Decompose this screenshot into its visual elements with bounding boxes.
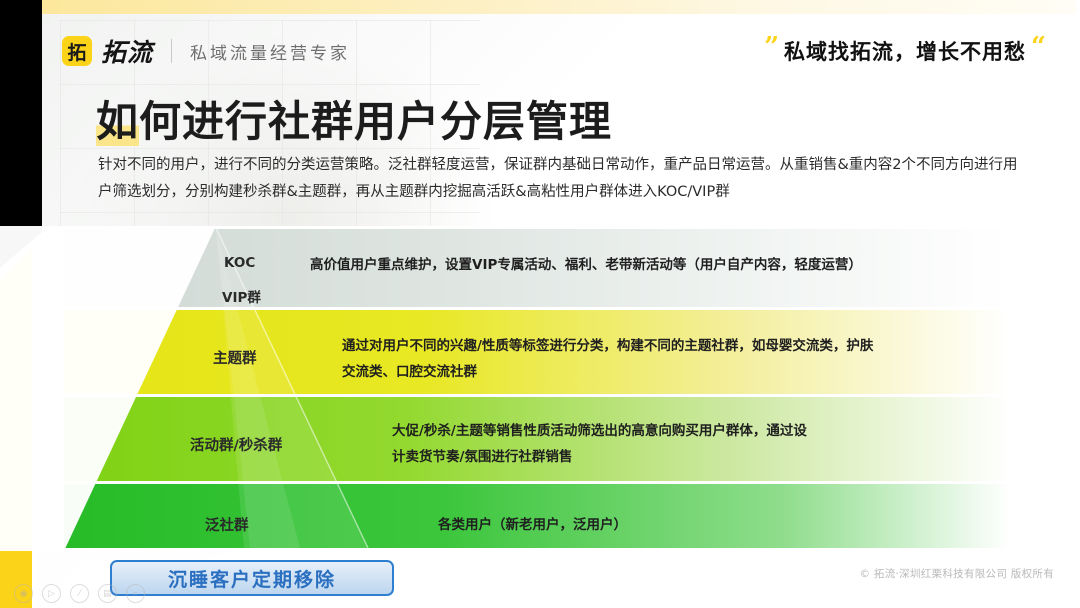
search-icon: ⌕ — [126, 584, 145, 603]
brand-tagline: 私域流量经营专家 — [190, 39, 350, 64]
quote-close-icon: “ — [1031, 36, 1046, 58]
tier-koc-label: KOC — [224, 255, 255, 271]
slide-canvas: 拓流 拓 拓流 私域流量经营专家 ” 私域找拓流，增长不用愁 “ 如何进行社群用… — [0, 0, 1080, 608]
tier-theme-description-line1: 通过对用户不同的兴趣/性质等标签进行分类，构建不同的主题社群，如母婴交流类，护肤 — [342, 333, 1002, 359]
tier-koc-label-2: VIP群 — [222, 286, 261, 306]
top-accent-strip — [36, 0, 1080, 14]
left-yellow-bar — [0, 248, 32, 608]
remove-dormant-customers-button[interactable]: 沉睡客户定期移除 — [110, 560, 394, 596]
page-subtitle: 针对不同的用户，进行不同的分类运营策略。泛社群轻度运营，保证群内基础日常动作，重… — [98, 152, 1023, 206]
quote-open-icon: ” — [764, 36, 779, 58]
copy-icon: ▤ — [98, 584, 117, 603]
play-icon: ▷ — [42, 584, 61, 603]
logo-wordmark: 拓流 — [101, 33, 153, 69]
camera-icon: ◉ — [14, 584, 33, 603]
tier-activity-description-line1: 大促/秒杀/主题等销售性质活动筛选出的高意向购买用户群体，通过设 — [392, 418, 1012, 444]
tier-general-label: 泛社群 — [205, 514, 249, 535]
link-icon: ⁄ — [70, 584, 89, 603]
copyright-text: © 拓流·深圳红栗科技有限公司 版权所有 — [859, 566, 1054, 581]
logo-icon: 拓 — [62, 36, 92, 66]
tier-activity-description-line2: 计卖货节奏/氛围进行社群销售 — [392, 444, 1012, 470]
tier-koc-description: 高价值用户重点维护，设置VIP专属活动、福利、老带新活动等（用户自产内容，轻度运… — [310, 252, 990, 278]
page-title: 如何进行社群用户分层管理 — [96, 88, 612, 149]
right-edge-rule — [1076, 0, 1080, 608]
page-title-rest: 何进行社群用户分层管理 — [139, 97, 612, 146]
page-title-highlight: 如 — [96, 97, 139, 146]
tier-theme-description-line2: 交流类、口腔交流社群 — [342, 359, 1002, 385]
slogan-text: 私域找拓流，增长不用愁 — [784, 36, 1026, 66]
brand-slogan: ” 私域找拓流，增长不用愁 “ — [764, 36, 1046, 66]
tier-general-description: 各类用户（新老用户，泛用户） — [438, 512, 898, 538]
pyramid-left-mask — [0, 226, 216, 551]
header-divider — [171, 39, 172, 63]
brand-header: 拓 拓流 私域流量经营专家 — [62, 33, 350, 69]
tier-activity-label: 活动群/秒杀群 — [190, 434, 282, 455]
watermark-icon-row: ◉ ▷ ⁄ ▤ ⌕ — [14, 584, 145, 603]
tier-theme-label: 主题群 — [213, 347, 257, 368]
left-black-bar — [0, 0, 42, 268]
